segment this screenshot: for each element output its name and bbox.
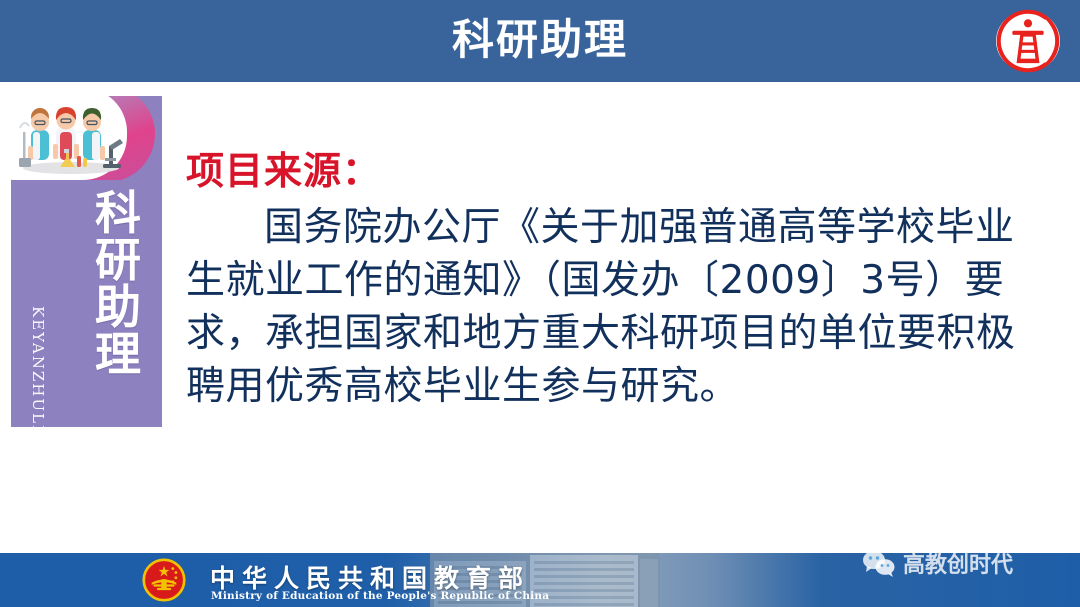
national-emblem-of-china — [142, 558, 186, 602]
sidebar-title-char-4: 理 — [89, 331, 147, 378]
header-bar: 科研助理 — [0, 0, 1080, 82]
content-heading: 项目来源： — [186, 140, 1046, 195]
sidebar-illustration — [11, 96, 162, 180]
page-title: 科研助理 — [0, 0, 1080, 82]
sidebar-vertical-title: 科 研 助 理 — [89, 190, 147, 378]
footer-bar: 中华人民共和国教育部 Ministry of Education of the … — [0, 553, 1080, 607]
sidebar-pinyin-label: KEYANZHULI — [29, 306, 47, 427]
sidebar-title-char-2: 研 — [89, 237, 147, 284]
university-emblem-logo — [994, 7, 1062, 75]
sidebar-title-char-1: 科 — [89, 190, 147, 237]
main-content: 项目来源： 国务院办公厅《关于加强普通高等学校毕业生就业工作的通知》（国发办〔2… — [186, 140, 1046, 413]
sidebar-panel: 科 研 助 理 KEYANZHULI — [11, 96, 162, 427]
sidebar-title-char-3: 助 — [89, 284, 147, 331]
ministry-name-en: Ministry of Education of the People's Re… — [211, 590, 549, 602]
content-body-paragraph: 国务院办公厅《关于加强普通高等学校毕业生就业工作的通知》（国发办〔2009〕3号… — [186, 201, 1046, 413]
three-scientists-lab-illustration — [17, 102, 125, 176]
